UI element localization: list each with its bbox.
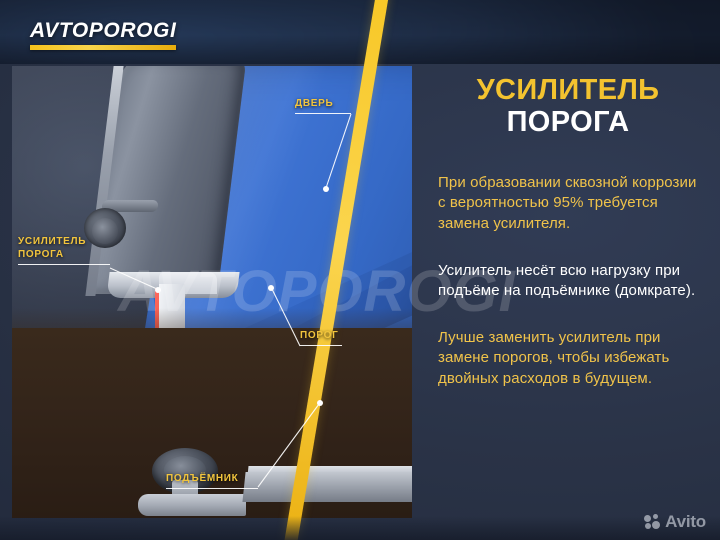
callout-lift-rule	[166, 488, 258, 489]
callout-lift-label: ПОДЪЁМНИК	[166, 473, 258, 485]
page-title-line2: ПОРОГА	[430, 106, 706, 138]
paragraph-corrosion: При образовании сквозной коррозии с веро…	[438, 173, 706, 235]
info-text-column: УСИЛИТЕЛЬ ПОРОГА При образовании сквозно…	[438, 74, 706, 389]
callout-door: ДВЕРЬ	[295, 98, 351, 114]
lift-arm-far	[242, 472, 412, 502]
callout-lift: ПОДЪЁМНИК	[166, 473, 258, 489]
callout-reinforcement-rule	[18, 264, 110, 265]
page-title: УСИЛИТЕЛЬ ПОРОГА	[430, 74, 706, 139]
callout-sill-rule	[300, 345, 342, 346]
bottom-fade	[0, 516, 720, 540]
poster-canvas: AVTOPOROGI AVTOPOROGI ДВЕРЬ	[0, 0, 720, 540]
brand-logo: AVTOPOROGI	[30, 20, 176, 50]
page-title-line1: УСИЛИТЕЛЬ	[430, 74, 706, 106]
avito-watermark: Avito	[644, 512, 706, 532]
callout-door-rule	[295, 113, 351, 114]
brand-logo-underline	[30, 45, 176, 50]
callout-reinforcement-label-line2: ПОРОГА	[18, 249, 110, 262]
avito-wordmark: Avito	[665, 512, 706, 532]
brand-logo-text: AVTOPOROGI	[30, 20, 176, 41]
callout-reinforcement-label-line1: УСИЛИТЕЛЬ	[18, 236, 110, 249]
callout-sill: ПОРОГ	[300, 330, 342, 346]
callout-reinforcement: УСИЛИТЕЛЬ ПОРОГА	[18, 236, 110, 265]
lift-arm-near	[138, 494, 246, 516]
callout-sill-label: ПОРОГ	[300, 330, 342, 342]
paragraph-load: Усилитель несёт всю нагрузку при подъёме…	[438, 261, 706, 302]
callout-door-label: ДВЕРЬ	[295, 98, 351, 110]
avito-dots-icon	[644, 514, 661, 530]
paragraph-advice: Лучше заменить усилитель при замене поро…	[438, 328, 706, 390]
